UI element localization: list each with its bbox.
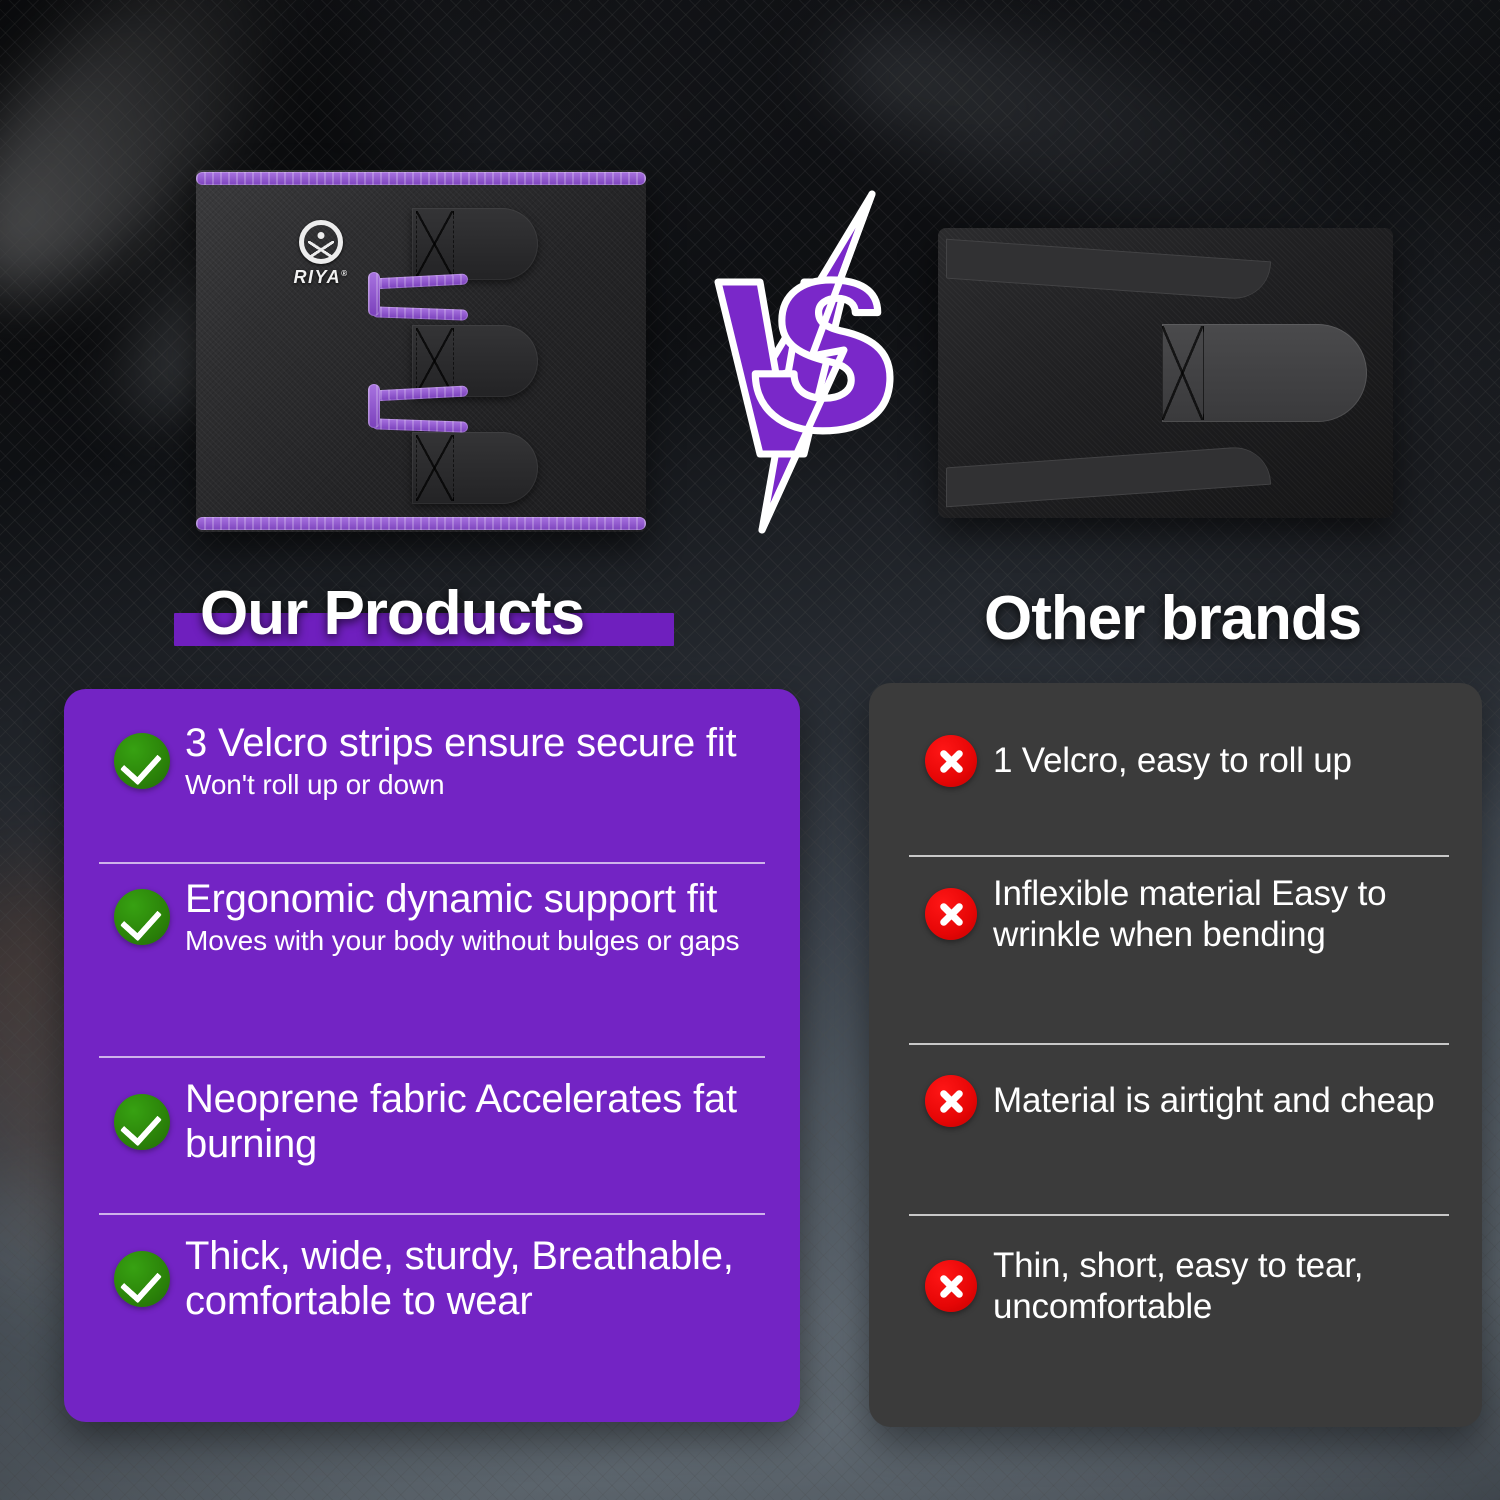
drawback-row: Thin, short, easy to tear, uncomfortable xyxy=(909,1245,1469,1328)
riya-brand-logo: RIYA® xyxy=(284,220,358,288)
versus-badge xyxy=(704,186,914,536)
feature-title: Neoprene fabric Accelerates fat burning xyxy=(185,1077,765,1167)
check-circle-icon xyxy=(114,733,170,789)
belt-purple-trim-curve xyxy=(368,272,380,316)
our-product-image: RIYA® xyxy=(196,170,646,532)
drawback-title: Thin, short, easy to tear, uncomfortable xyxy=(993,1245,1469,1328)
riya-emblem-icon xyxy=(299,220,343,264)
divider xyxy=(99,1056,765,1058)
velcro-strip xyxy=(1162,324,1367,422)
feature-row: Ergonomic dynamic support fit Moves with… xyxy=(99,877,765,957)
divider xyxy=(99,1213,765,1215)
feature-row: Neoprene fabric Accelerates fat burning xyxy=(99,1077,765,1167)
drawback-title: 1 Velcro, easy to roll up xyxy=(993,740,1449,781)
feature-title: 3 Velcro strips ensure secure fit xyxy=(185,721,765,766)
our-products-heading: Our Products xyxy=(200,583,584,645)
other-brand-product-image xyxy=(938,228,1393,518)
drawback-title: Inflexible material Easy to wrinkle when… xyxy=(993,873,1449,956)
feature-subtitle: Won't roll up or down xyxy=(185,768,765,802)
drawback-row: Inflexible material Easy to wrinkle when… xyxy=(909,873,1449,956)
belt-purple-trim-curve xyxy=(368,384,380,428)
check-circle-icon xyxy=(114,889,170,945)
feature-row: Thick, wide, sturdy, Breathable, comfort… xyxy=(99,1234,779,1324)
drawback-row: 1 Velcro, easy to roll up xyxy=(909,735,1449,787)
cross-circle-icon xyxy=(925,888,977,940)
velcro-strip xyxy=(412,432,538,504)
check-circle-icon xyxy=(114,1251,170,1307)
feature-subtitle: Moves with your body without bulges or g… xyxy=(185,924,765,958)
feature-title: Ergonomic dynamic support fit xyxy=(185,877,765,922)
feature-title: Thick, wide, sturdy, Breathable, comfort… xyxy=(185,1234,779,1324)
other-brands-card: 1 Velcro, easy to roll up Inflexible mat… xyxy=(869,683,1482,1427)
feature-row: 3 Velcro strips ensure secure fit Won't … xyxy=(99,721,765,801)
cross-circle-icon xyxy=(925,1260,977,1312)
velcro-strip xyxy=(412,325,538,397)
divider xyxy=(909,1214,1449,1216)
riya-brand-name: RIYA® xyxy=(284,267,358,288)
check-circle-icon xyxy=(114,1094,170,1150)
cross-circle-icon xyxy=(925,1075,977,1127)
other-brands-heading: Other brands xyxy=(984,588,1361,650)
drawback-title: Material is airtight and cheap xyxy=(993,1080,1449,1121)
divider xyxy=(99,862,765,864)
drawback-row: Material is airtight and cheap xyxy=(909,1075,1449,1127)
cross-circle-icon xyxy=(925,735,977,787)
belt-purple-trim-top xyxy=(196,172,646,185)
belt-purple-trim-bottom xyxy=(196,517,646,530)
divider xyxy=(909,1043,1449,1045)
our-products-card: 3 Velcro strips ensure secure fit Won't … xyxy=(64,689,800,1422)
divider xyxy=(909,855,1449,857)
velcro-strip xyxy=(412,208,538,280)
